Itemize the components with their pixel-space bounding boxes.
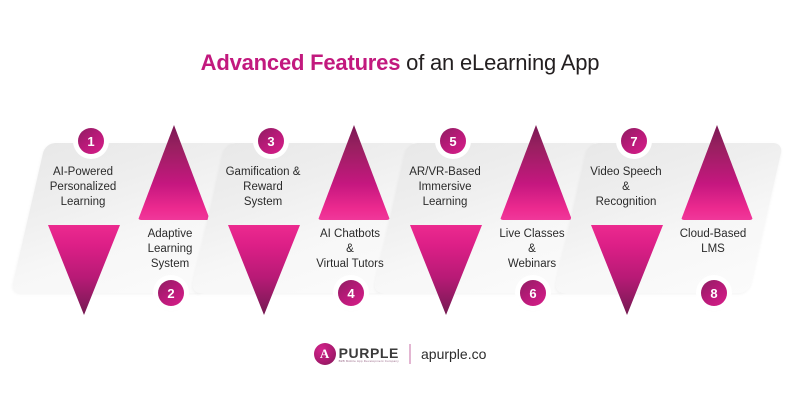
feature-number-badge[interactable]: 5 bbox=[440, 128, 466, 154]
down-triangle-icon bbox=[410, 225, 482, 315]
feature-number-badge[interactable]: 8 bbox=[701, 280, 727, 306]
logo-text-stack: PURPLE B2B Mobile App Development Compan… bbox=[339, 346, 399, 363]
feature-label: Video Speech & Recognition bbox=[571, 165, 681, 210]
feature-label: Live Classes & Webinars bbox=[482, 227, 582, 272]
footer: A PURPLE B2B Mobile App Development Comp… bbox=[0, 340, 800, 368]
brand-logo[interactable]: A PURPLE B2B Mobile App Development Comp… bbox=[314, 343, 399, 365]
feature-label: AI Chatbots & Virtual Tutors bbox=[300, 227, 400, 272]
feature-number-badge[interactable]: 7 bbox=[621, 128, 647, 154]
feature-number-badge[interactable]: 3 bbox=[258, 128, 284, 154]
down-triangle-icon bbox=[48, 225, 120, 315]
logo-wordmark: PURPLE bbox=[339, 346, 399, 360]
feature-label: Cloud-Based LMS bbox=[663, 227, 763, 257]
feature-group: Video Speech & Recognition 7 Cloud-Based… bbox=[553, 125, 763, 300]
page-title-accent: Advanced Features bbox=[201, 50, 401, 75]
feature-number-badge[interactable]: 6 bbox=[520, 280, 546, 306]
apurple-logo-icon: A bbox=[314, 343, 336, 365]
feature-label: AR/VR-Based Immersive Learning bbox=[390, 165, 500, 210]
feature-number-badge[interactable]: 2 bbox=[158, 280, 184, 306]
feature-group: AR/VR-Based Immersive Learning 5 Live Cl… bbox=[372, 125, 582, 300]
page-title-rest: of an eLearning App bbox=[400, 50, 599, 75]
feature-label: Gamification & Reward System bbox=[208, 165, 318, 210]
feature-label: AI-Powered Personalized Learning bbox=[28, 165, 138, 210]
down-triangle-icon bbox=[591, 225, 663, 315]
feature-group: AI-Powered Personalized Learning 1 Adapt… bbox=[10, 125, 220, 300]
down-triangle-icon bbox=[228, 225, 300, 315]
up-triangle-icon bbox=[681, 125, 753, 220]
website-url: apurple.co bbox=[421, 346, 486, 362]
page-title: Advanced Features of an eLearning App bbox=[0, 50, 800, 76]
logo-tagline: B2B Mobile App Development Company bbox=[339, 360, 399, 363]
feature-number-badge[interactable]: 4 bbox=[338, 280, 364, 306]
footer-divider bbox=[409, 344, 411, 364]
feature-number-badge[interactable]: 1 bbox=[78, 128, 104, 154]
feature-strip: AI-Powered Personalized Learning 1 Adapt… bbox=[0, 125, 800, 315]
feature-group: Gamification & Reward System 3 AI Chatbo… bbox=[190, 125, 400, 300]
feature-label: Adaptive Learning System bbox=[120, 227, 220, 272]
